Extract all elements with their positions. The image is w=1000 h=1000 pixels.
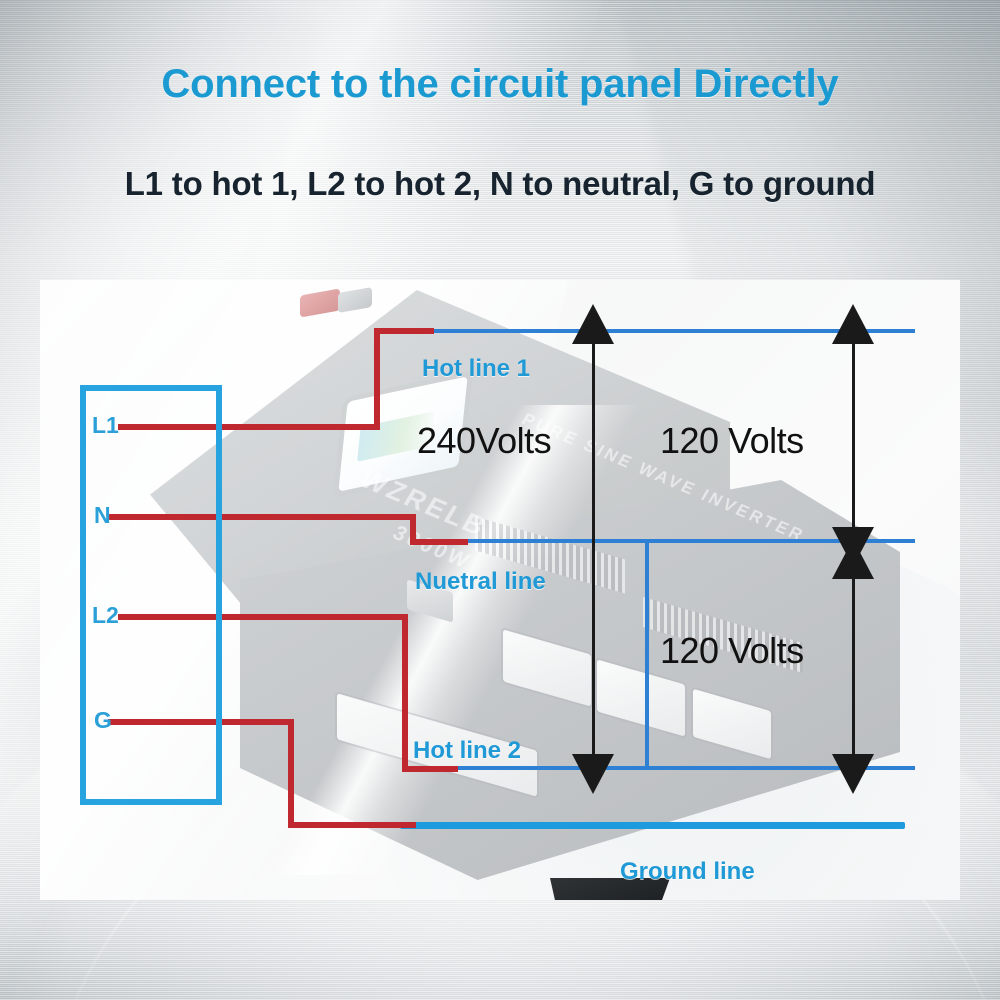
dimension-line-240v <box>592 342 595 754</box>
neutral-to-hot2-tie <box>645 539 649 770</box>
label-voltage-120-lower: 120 Volts <box>660 630 804 672</box>
dimension-line-120v-lower <box>852 554 855 754</box>
circuit-panel-box <box>80 385 222 805</box>
arrowhead-120v-upper-top <box>832 304 874 344</box>
wire-l1-vertical <box>374 328 380 430</box>
page-subtitle: L1 to hot 1, L2 to hot 2, N to neutral, … <box>0 165 1000 203</box>
ground-line-conductor <box>400 822 905 829</box>
dimension-line-120v-upper <box>852 342 855 528</box>
label-voltage-120-upper: 120 Volts <box>660 420 804 462</box>
terminal-label-l2: L2 <box>92 602 119 629</box>
wire-g-bottom-stub <box>288 822 416 828</box>
terminal-label-n: N <box>94 502 111 529</box>
label-hot-line-2: Hot line 2 <box>413 737 521 765</box>
screenshot-root: Connect to the circuit panel Directly L1… <box>0 0 1000 1000</box>
diagram-panel: WZRELB 3000W PURE SINE WAVE INVERTER <box>40 280 960 900</box>
arrowhead-240v-bottom <box>572 754 614 794</box>
label-neutral-line: Nuetral line <box>415 568 546 596</box>
wire-n-bottom-stub <box>410 539 468 545</box>
label-voltage-240: 240Volts <box>417 420 551 462</box>
arrowhead-120v-lower-bottom <box>832 754 874 794</box>
label-hot-line-1: Hot line 1 <box>422 355 530 383</box>
arrowhead-240v-top <box>572 304 614 344</box>
arrowhead-120v-lower-top <box>832 539 874 579</box>
terminal-label-l1: L1 <box>92 412 119 439</box>
wire-l1-top-stub <box>374 328 434 334</box>
label-ground-line: Ground line <box>620 858 755 886</box>
wire-g-vertical <box>288 719 294 828</box>
wire-l2-bottom-stub <box>402 766 458 772</box>
terminal-label-g: G <box>94 707 112 734</box>
page-title: Connect to the circuit panel Directly <box>0 62 1000 107</box>
wire-l2-vertical <box>402 614 408 770</box>
